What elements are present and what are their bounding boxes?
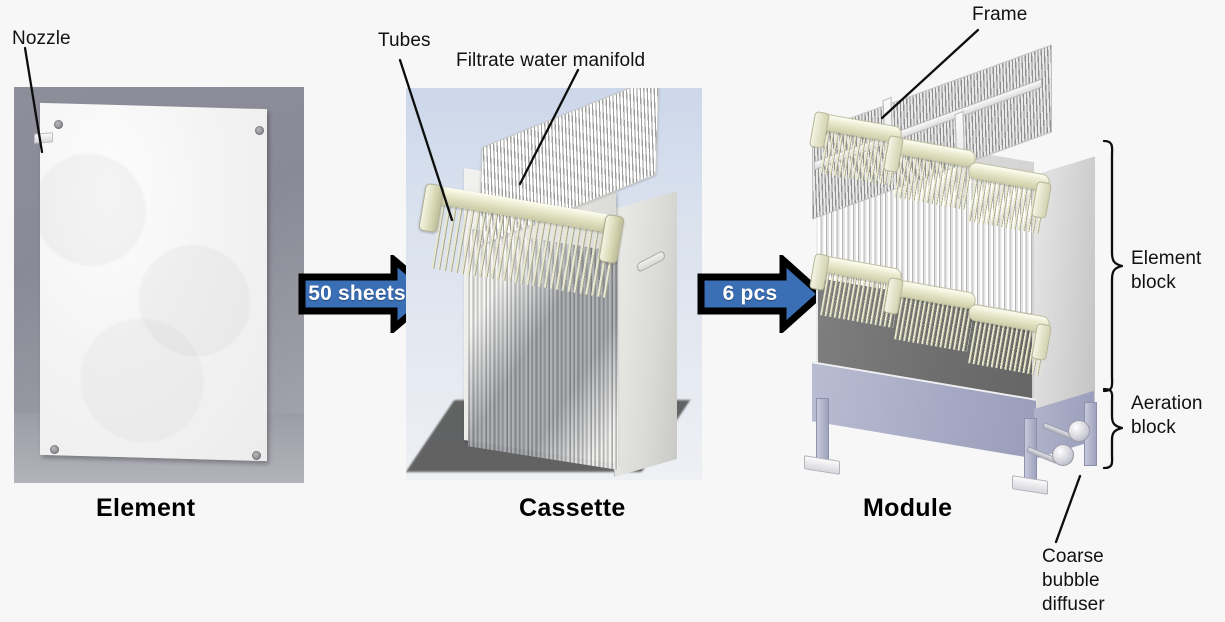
coarse-bubble-diffuser-lower: [1052, 444, 1074, 466]
caption-element: Element: [96, 494, 195, 523]
figure-canvas: Nozzle Element 50 sheets Tubes Filtrate …: [0, 0, 1225, 622]
element-block-brace: [1100, 138, 1124, 394]
callout-filtrate-water-manifold: Filtrate water manifold: [456, 50, 645, 72]
nozzle-leader-line: [0, 0, 140, 170]
module-foot-front-left: [804, 455, 840, 475]
element-bolt-bottom-left: [50, 445, 59, 454]
callout-coarse-bubble-diffuser-line2: bubble: [1042, 570, 1100, 592]
frame-leader-line: [830, 20, 1000, 130]
coarse-bubble-diffuser-upper: [1068, 420, 1090, 442]
aeration-block-brace: [1100, 386, 1124, 472]
callout-coarse-bubble-diffuser-line3: diffuser: [1042, 594, 1105, 616]
element-bolt-top-right: [255, 126, 264, 135]
coarse-bubble-diffuser-leader-line: [1040, 470, 1110, 550]
callout-frame: Frame: [972, 4, 1027, 26]
module-render: [786, 84, 1096, 496]
callout-tubes: Tubes: [378, 30, 431, 52]
element-bolt-bottom-right: [252, 451, 261, 460]
callout-coarse-bubble-diffuser-line1: Coarse: [1042, 546, 1104, 568]
caption-module: Module: [863, 494, 952, 523]
callout-nozzle: Nozzle: [12, 28, 71, 50]
caption-cassette: Cassette: [519, 494, 626, 523]
cassette-handle: [636, 250, 666, 273]
callout-element-block-line1: Element: [1131, 248, 1201, 270]
callout-aeration-block-line1: Aeration: [1131, 393, 1203, 415]
cassette-side-panel: [614, 191, 677, 477]
filtrate-manifold-leader-line: [500, 62, 590, 197]
callout-element-block-line2: block: [1131, 272, 1176, 294]
callout-aeration-block-line2: block: [1131, 417, 1176, 439]
module-leg-front-left: [816, 398, 829, 462]
